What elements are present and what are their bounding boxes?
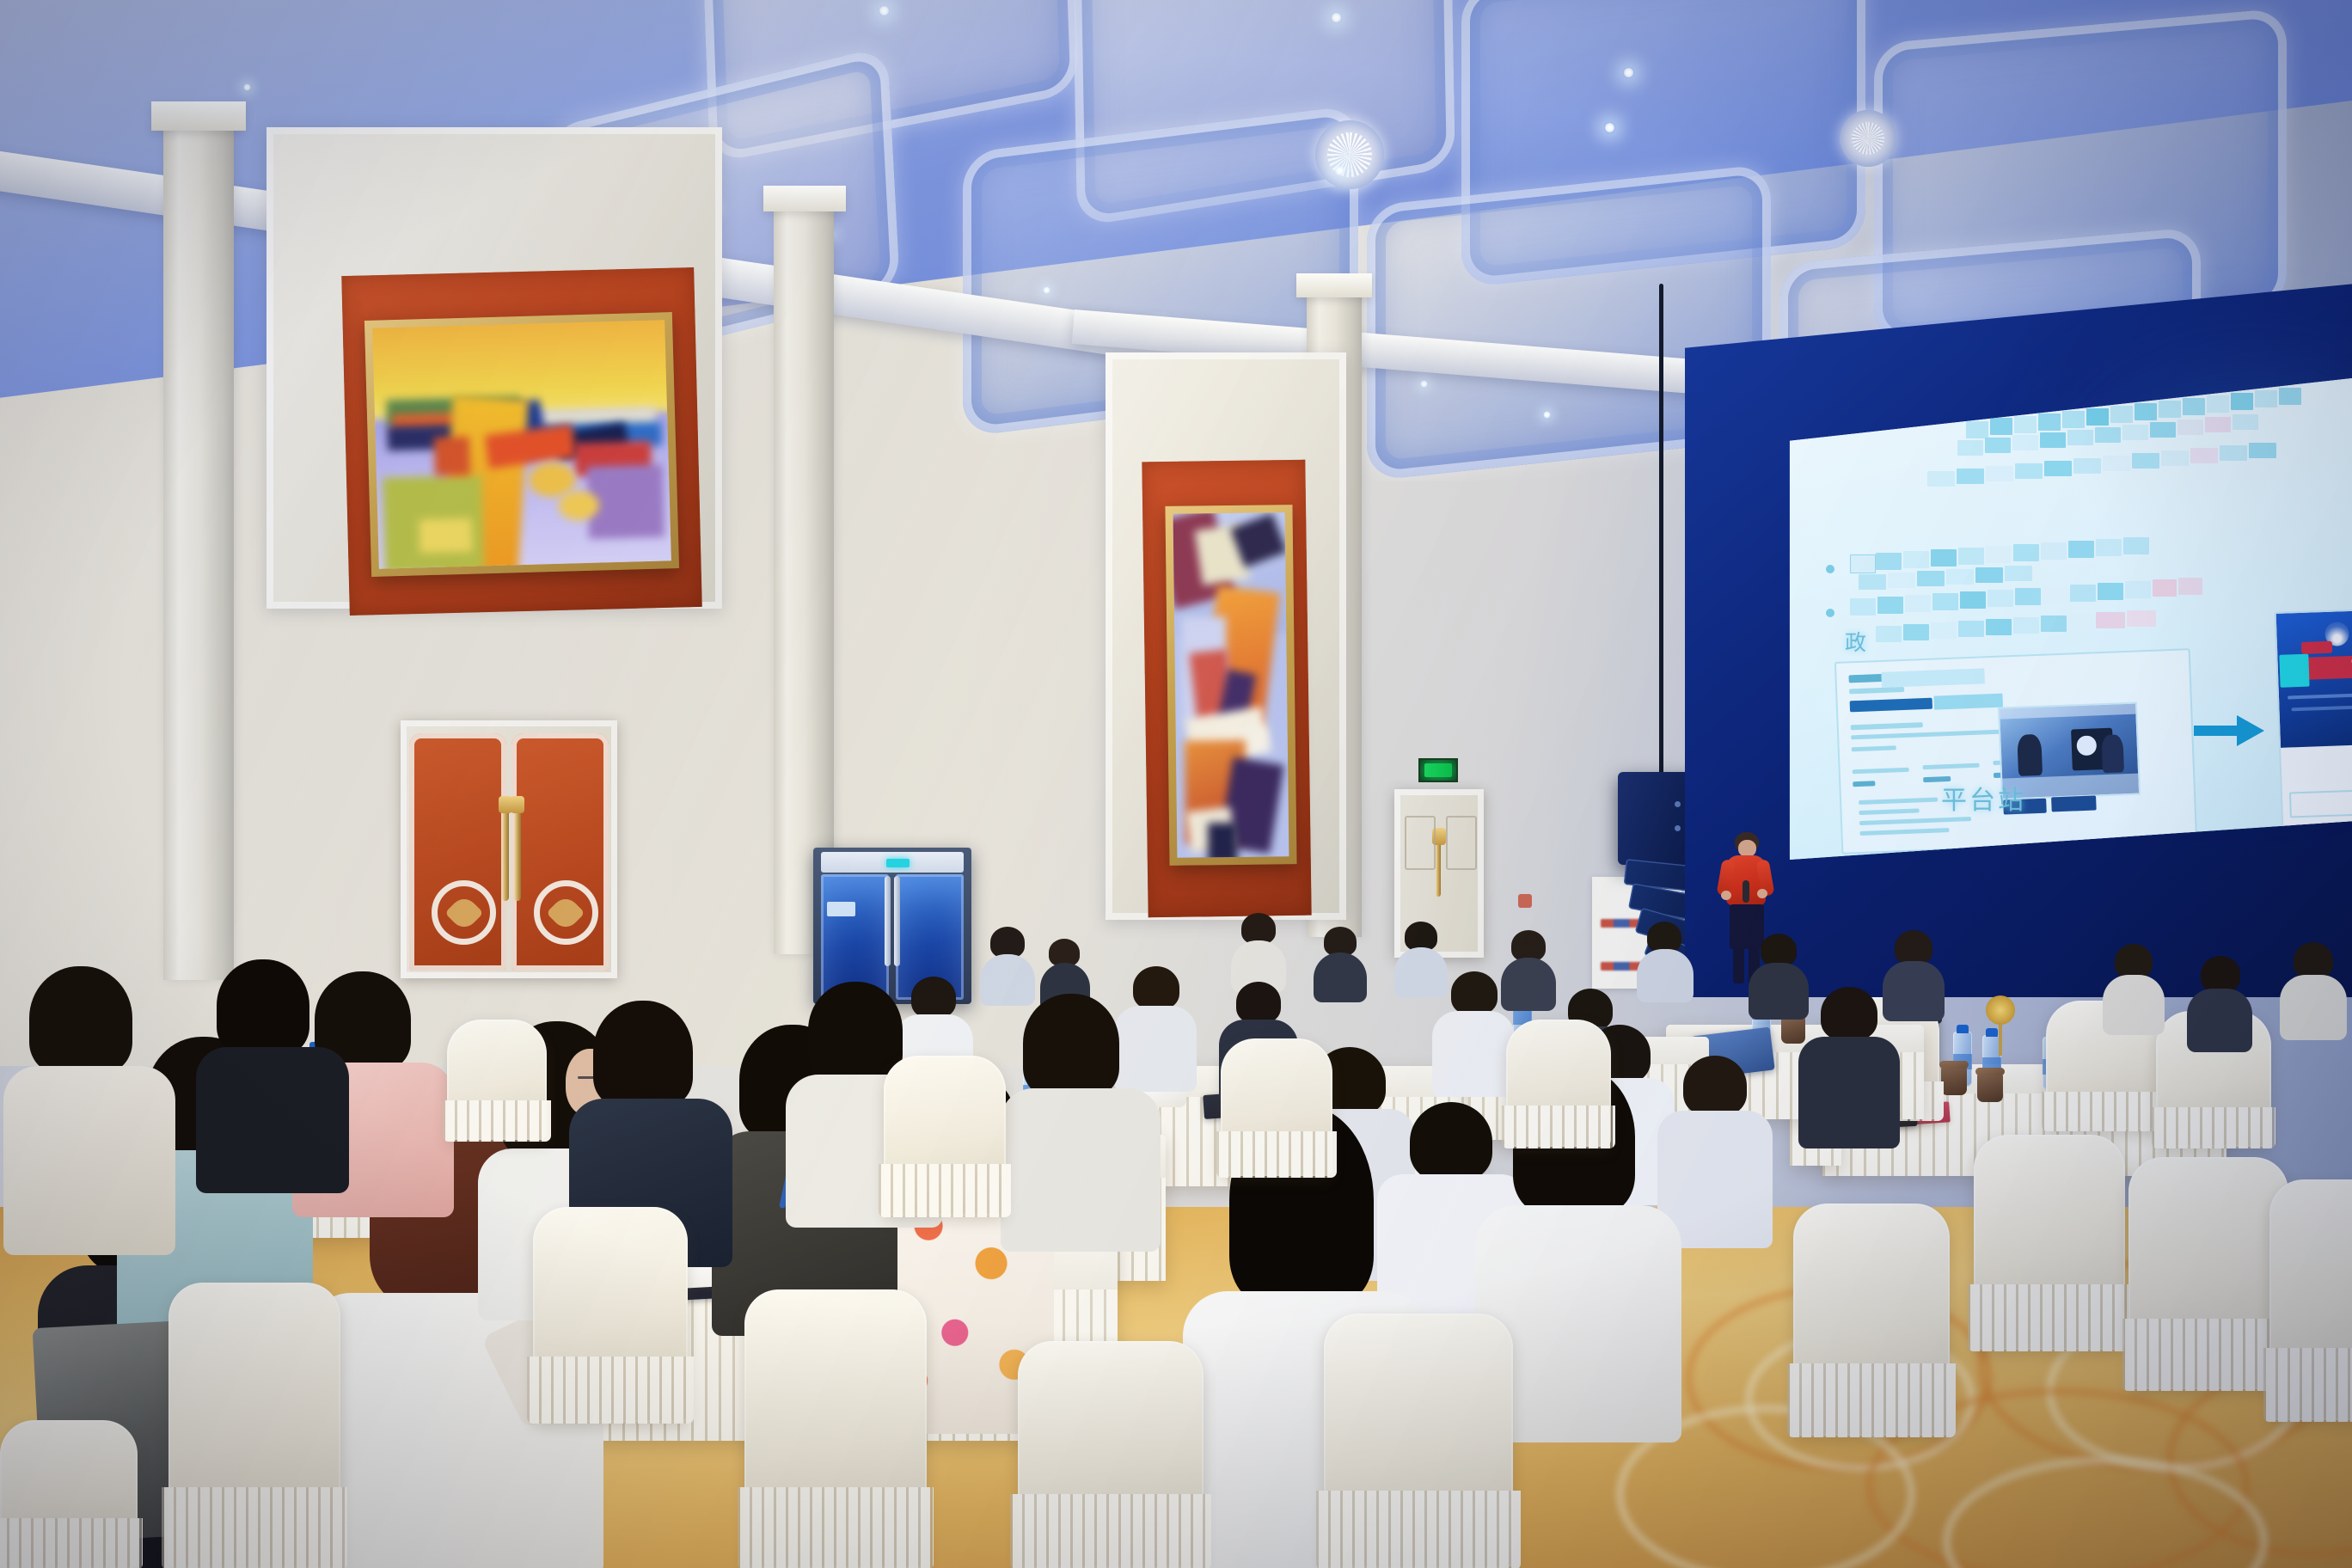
person-hair xyxy=(1511,930,1546,961)
person-hair xyxy=(1683,1056,1747,1116)
tea-cup xyxy=(1941,1066,1967,1095)
chair-cover-skirt xyxy=(527,1357,694,1424)
slide-phone-mockup xyxy=(2275,609,2352,832)
thumbnail-person xyxy=(2017,734,2043,776)
presenter-leg xyxy=(1733,947,1744,983)
person-hair xyxy=(1451,971,1498,1014)
tea-cup xyxy=(1781,1016,1805,1044)
cooler-header-panel xyxy=(821,852,964,873)
chair-cover-skirt xyxy=(738,1487,934,1568)
phone-line xyxy=(2291,706,2352,712)
chair-cover-skirt xyxy=(2152,1107,2276,1148)
speaker-driver xyxy=(1675,825,1681,831)
person-torso xyxy=(1798,1037,1900,1148)
ceiling-rosette xyxy=(1840,110,1896,167)
cooler-handle-right[interactable] xyxy=(894,876,900,967)
painting-canvas xyxy=(1173,512,1289,858)
slide-section-marker: 政 xyxy=(1845,626,1869,657)
recessed-downlight xyxy=(1604,122,1615,133)
card-stat-label xyxy=(1853,768,1909,775)
chair-cover-skirt xyxy=(1216,1131,1337,1178)
slide-listing-card xyxy=(1834,648,2197,854)
person-torso xyxy=(2280,975,2347,1040)
person-torso xyxy=(1114,1006,1197,1092)
chair-cover-skirt xyxy=(443,1100,550,1142)
person-torso xyxy=(2103,975,2165,1035)
person-torso xyxy=(196,1047,349,1193)
banquet-chair xyxy=(447,1020,547,1140)
person-hair xyxy=(1324,927,1357,956)
chair-cover-skirt xyxy=(1968,1284,2131,1351)
recessed-downlight xyxy=(1334,165,1345,176)
person-torso xyxy=(1394,947,1448,997)
abstract-figure-painting xyxy=(1165,505,1296,866)
recessed-downlight xyxy=(1543,411,1551,419)
person-hair xyxy=(1133,966,1179,1009)
person-hair xyxy=(1236,982,1281,1023)
door-panel-detail xyxy=(1405,816,1435,870)
chair-cover-skirt xyxy=(1502,1106,1615,1148)
phone-tag-badge xyxy=(2301,641,2332,654)
chair-cover-skirt xyxy=(1010,1494,1210,1568)
slide-flow-arrow-icon xyxy=(2194,712,2264,750)
person-torso xyxy=(2187,989,2252,1052)
ceiling-rosette xyxy=(1315,120,1384,189)
handheld-microphone xyxy=(1743,880,1749,903)
person-hair xyxy=(29,966,132,1075)
banquet-chair xyxy=(168,1283,340,1568)
card-bullet-line xyxy=(1859,828,1949,836)
person-hair xyxy=(1410,1102,1492,1181)
pilaster-capital xyxy=(763,186,846,211)
card-bullet-line xyxy=(1859,817,1971,825)
thumbnail-header xyxy=(2000,704,2135,720)
door-leaf-right[interactable] xyxy=(511,733,609,971)
banquet-chair xyxy=(2269,1179,2352,1420)
chair-cover-skirt xyxy=(0,1518,143,1568)
projection-screen: 政 xyxy=(1781,378,2352,860)
person-hair xyxy=(217,959,309,1056)
banquet-chair xyxy=(1018,1341,1204,1568)
pilaster-capital xyxy=(1296,273,1372,297)
banquet-chair xyxy=(0,1420,138,1568)
banquet-chair xyxy=(1324,1314,1513,1568)
slide-bullet-2 xyxy=(1826,609,1834,617)
tea-cup-lid xyxy=(1939,1061,1969,1069)
table-number-stand xyxy=(1986,995,2015,1056)
card-redacted-block xyxy=(1881,668,1985,688)
slide-platform-caption: 平台站 xyxy=(1941,779,2026,817)
thumbnail-action-button[interactable] xyxy=(2051,795,2097,812)
person-torso xyxy=(1001,1088,1161,1252)
exit-sign-glow xyxy=(1424,763,1451,777)
person-torso xyxy=(1749,963,1809,1020)
pilaster-capital xyxy=(151,101,246,131)
painting-canvas xyxy=(372,320,671,568)
banquet-chair xyxy=(1506,1020,1611,1147)
person-hair xyxy=(990,927,1025,958)
cooler-handle-left[interactable] xyxy=(885,876,891,967)
person-hair xyxy=(1647,922,1681,952)
banquet-chair xyxy=(533,1207,688,1422)
abstract-landscape-painting xyxy=(364,312,679,577)
banquet-chair xyxy=(744,1289,927,1568)
person-hair xyxy=(808,982,903,1083)
card-price-chip xyxy=(1850,698,1932,713)
table-number-disc xyxy=(1986,995,2015,1025)
card-stat-label xyxy=(1923,763,1980,770)
banquet-chair xyxy=(884,1056,1006,1216)
speaker-driver xyxy=(1675,801,1681,807)
person-torso xyxy=(1637,949,1694,1002)
person-hair xyxy=(1761,934,1797,966)
chair-cover-skirt xyxy=(2042,1092,2165,1131)
emergency-exit-sign xyxy=(1418,758,1458,782)
card-body-line xyxy=(1852,745,1896,751)
card-stat-value xyxy=(1853,781,1875,787)
person-torso xyxy=(1883,961,1945,1021)
card-bullet-line xyxy=(1859,808,1920,815)
chair-cover-skirt xyxy=(1787,1363,1957,1437)
person-hair xyxy=(1241,913,1276,944)
person-hair xyxy=(911,977,956,1018)
person-torso xyxy=(980,954,1035,1006)
recessed-downlight xyxy=(243,83,251,91)
person-hair xyxy=(1895,930,1932,965)
card-redacted-block xyxy=(1933,694,2003,710)
bottle-cap xyxy=(1957,1025,1969,1033)
door-panel-detail xyxy=(1446,816,1476,870)
door-medallion xyxy=(534,880,598,945)
wall-marker-icon xyxy=(1518,894,1532,908)
wall-pilaster xyxy=(774,198,834,954)
conference-hall-photo: 政 xyxy=(0,0,2352,1568)
cooler-sticker xyxy=(827,902,855,916)
presenter-hand-right xyxy=(1757,889,1767,898)
chair-cover-skirt xyxy=(879,1164,1010,1217)
phone-bottom-field xyxy=(2289,789,2352,818)
tea-cup-lid xyxy=(1975,1068,2006,1075)
person-hair xyxy=(2201,956,2240,992)
tea-cup xyxy=(1977,1073,2003,1102)
person-hair xyxy=(1821,987,1877,1040)
thumbnail-person xyxy=(2101,735,2124,774)
chair-cover-skirt xyxy=(1316,1491,1521,1568)
banquet-chair xyxy=(1793,1204,1950,1436)
recessed-downlight xyxy=(1331,12,1342,23)
person-torso xyxy=(1501,958,1556,1011)
banquet-chair xyxy=(1221,1038,1332,1176)
person-hair xyxy=(1023,994,1119,1097)
card-body-line xyxy=(1851,722,1923,730)
door-leaf-left[interactable] xyxy=(409,733,506,971)
wall-pilaster xyxy=(163,112,234,980)
chair-cover-skirt xyxy=(162,1487,347,1568)
presenter-face xyxy=(1738,840,1756,857)
person-hair xyxy=(1405,922,1437,951)
person-hair xyxy=(593,1001,693,1107)
card-sub-line xyxy=(1849,687,1904,694)
person-hair xyxy=(2115,944,2153,978)
banquet-chair xyxy=(1974,1135,2125,1350)
recessed-downlight xyxy=(1043,286,1050,294)
presenter-skirt xyxy=(1730,904,1764,949)
table-number-rod xyxy=(1999,1023,2002,1056)
door-handle[interactable] xyxy=(1436,840,1441,897)
recessed-downlight xyxy=(1623,67,1634,78)
speaker-suspension-cable xyxy=(1659,284,1663,787)
door-handle-right[interactable] xyxy=(514,808,521,901)
person-torso xyxy=(3,1066,175,1255)
recessed-downlight xyxy=(1420,380,1428,388)
door-handle-left[interactable] xyxy=(502,808,509,901)
cooler-door-left[interactable] xyxy=(821,874,889,1000)
chair-cover-skirt xyxy=(2263,1348,2352,1422)
phone-cyan-tile xyxy=(2279,654,2309,688)
presenter-hand-left xyxy=(1721,891,1731,900)
phone-hero-banner xyxy=(2276,610,2352,748)
slide-bullet-1 xyxy=(1826,565,1834,573)
door-medallion xyxy=(432,880,496,945)
cooler-display-badge xyxy=(886,859,909,868)
phone-line xyxy=(2288,693,2352,699)
recessed-downlight xyxy=(879,5,890,16)
ballroom-double-doors[interactable] xyxy=(401,720,617,978)
person-torso xyxy=(1314,952,1367,1002)
card-bullet-line xyxy=(1859,798,1938,805)
person-torso xyxy=(1432,1011,1515,1097)
person-hair xyxy=(2294,942,2333,978)
